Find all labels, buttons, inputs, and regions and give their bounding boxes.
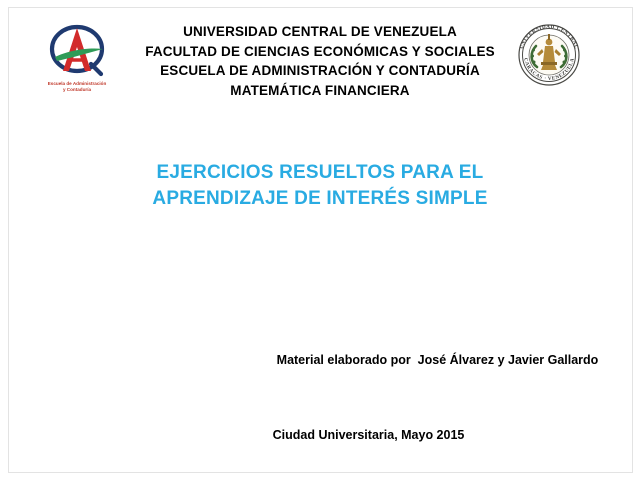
- header-line-school: ESCUELA DE ADMINISTRACIÓN Y CONTADURÍA: [0, 61, 640, 81]
- slide-title: EJERCICIOS RESUELTOS PARA EL APRENDIZAJE…: [0, 160, 640, 212]
- header-line-university: UNIVERSIDAD CENTRAL DE VENEZUELA: [0, 22, 640, 42]
- place-and-date-text: Ciudad Universitaria, Mayo 2015: [273, 428, 465, 442]
- header-line-subject: MATEMÁTICA FINANCIERA: [0, 81, 640, 101]
- place-and-date: Ciudad Universitaria, Mayo 2015: [0, 426, 640, 444]
- institution-header: UNIVERSIDAD CENTRAL DE VENEZUELA FACULTA…: [0, 22, 640, 100]
- presentation-slide: Escuela de Administración y Contaduría U…: [0, 0, 640, 480]
- slide-title-line-1: EJERCICIOS RESUELTOS PARA EL: [0, 160, 640, 186]
- authors-credit: Material elaborado por José Álvarez y Ja…: [0, 351, 640, 369]
- header-line-faculty: FACULTAD DE CIENCIAS ECONÓMICAS Y SOCIAL…: [0, 42, 640, 62]
- authors-credit-text: Material elaborado por José Álvarez y Ja…: [277, 353, 599, 367]
- slide-title-line-2: APRENDIZAJE DE INTERÉS SIMPLE: [0, 186, 640, 212]
